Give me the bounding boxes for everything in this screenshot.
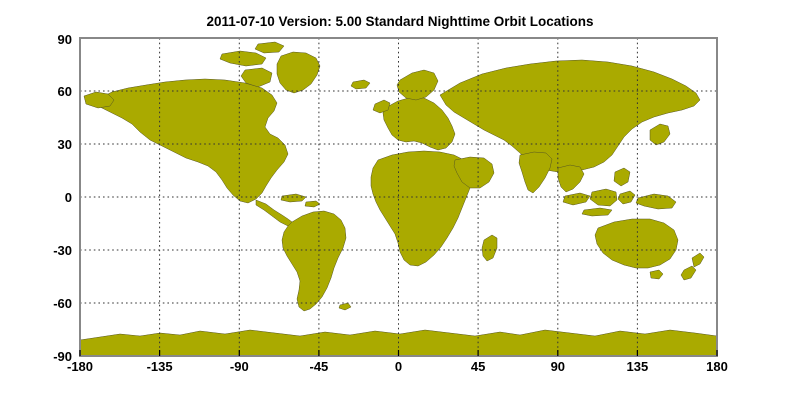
ytick-label--60: -60 <box>53 296 72 311</box>
xtick-label-90: 90 <box>551 359 565 374</box>
xtick-label--45: -45 <box>310 359 329 374</box>
ytick-label-30: 30 <box>58 137 72 152</box>
xtick-label--180: -180 <box>67 359 93 374</box>
plot-area <box>80 38 717 356</box>
ytick-label-60: 60 <box>58 84 72 99</box>
orbit-location-map-figure: 2011-07-10 Version: 5.00 Standard Nightt… <box>0 0 800 400</box>
ytick-label-0: 0 <box>65 190 72 205</box>
x-axis-tick-labels: -180 -135 -90 -45 0 45 90 135 180 <box>67 359 728 374</box>
xtick-label--90: -90 <box>230 359 249 374</box>
xtick-label-0: 0 <box>395 359 402 374</box>
chart-title: 2011-07-10 Version: 5.00 Standard Nightt… <box>206 14 593 29</box>
ytick-label--30: -30 <box>53 243 72 258</box>
xtick-label-135: 135 <box>627 359 649 374</box>
xtick-label-180: 180 <box>706 359 728 374</box>
xtick-label-45: 45 <box>471 359 485 374</box>
xtick-label--135: -135 <box>147 359 173 374</box>
ytick-label-90: 90 <box>58 32 72 47</box>
